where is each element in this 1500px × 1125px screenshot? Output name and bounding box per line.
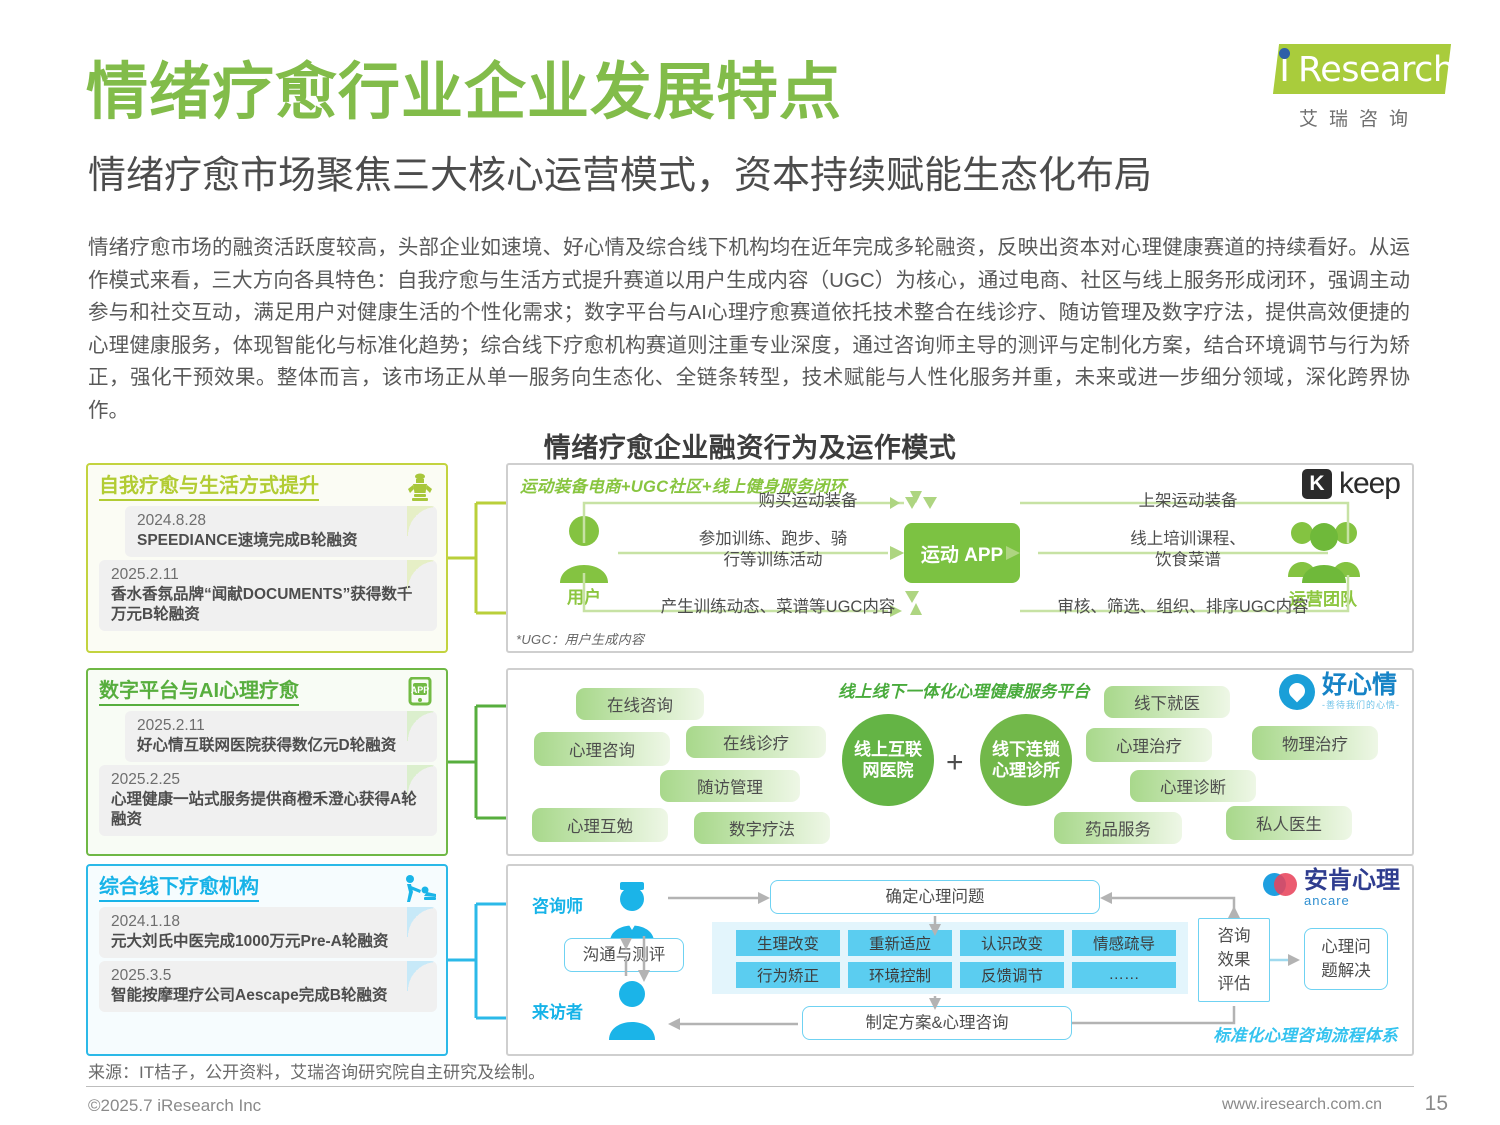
brand-tagline: -善待我们的心情- [1322,698,1400,711]
page-subtitle: 情绪疗愈市场聚焦三大核心运营模式，资本持续赋能生态化布局 [88,152,1152,200]
card-title: 数字平台与AI心理疗愈 [99,679,299,706]
circle-online-hospital: 线上互联 网医院 [842,714,934,806]
flow-label: 上架运动装备 [1038,491,1338,512]
svg-text:APP: APP [411,685,430,695]
note-date: 2025.2.25 [111,770,427,790]
note-corner-icon [407,961,437,991]
plus-sign: + [946,746,964,780]
slide-page: i Research 艾瑞咨询 情绪疗愈行业企业发展特点 情绪疗愈市场聚焦三大核… [0,0,1500,1125]
pill-item: 心理互勉 [532,808,668,842]
logo-chinese-name: 艾瑞咨询 [1258,104,1448,131]
circle-offline-clinic: 线下连锁 心理诊所 [980,714,1072,806]
card-header: 综合线下疗愈机构 [99,873,437,903]
note-desc: 智能按摩理疗公司Aescape完成B轮融资 [111,986,427,1006]
note-desc: 香水香氛品牌“闻献DOCUMENTS”获得数千万元B轮融资 [111,585,427,625]
note-date: 2025.2.11 [137,716,427,736]
pill-item: 心理诊断 [1130,770,1256,802]
trophy-icon [403,472,437,502]
flow-label: 参加训练、跑步、骑 行等训练活动 [658,529,888,571]
note-corner-icon [407,765,437,795]
note-corner-icon [407,560,437,590]
flow-label: 购买运动装备 [678,491,938,512]
note-desc: SPEEDIANCE速境完成B轮融资 [137,531,427,551]
haoxinqing-icon [1279,674,1315,710]
note-desc: 好心情互联网医院获得数亿元D轮融资 [137,736,427,756]
connector-bracket [448,864,506,1056]
website-url: www.iresearch.com.cn [1222,1096,1382,1114]
process-arrows [508,866,1468,1056]
brand-name: 好心情 [1322,672,1400,698]
pill-item: 物理治疗 [1252,726,1378,760]
note-item: 2025.2.11 香水香氛品牌“闻献DOCUMENTS”获得数千万元B轮融资 [99,560,437,631]
massage-icon [403,873,437,903]
card-header: 数字平台与AI心理疗愈 APP [99,677,437,707]
pill-item: 随访管理 [660,770,800,802]
note-date: 2025.3.5 [111,966,427,986]
brand-haoxinqing-logo: 好心情 -善待我们的心情- [1279,672,1400,711]
note-date: 2025.2.11 [111,565,427,585]
footnote-ugc: *UGC：用户生成内容 [516,629,644,648]
footer-divider [86,1086,1414,1087]
card-header: 自我疗愈与生活方式提升 [99,472,437,502]
logo-dot-icon [1279,48,1290,59]
row-digital-platform: 数字平台与AI心理疗愈 APP 2025.2.11 好心情互联网医院获得数亿元D… [86,668,1414,856]
note-date: 2024.8.28 [137,511,427,531]
source-note: 来源：IT桔子，公开资料，艾瑞咨询研究院自主研究及绘制。 [88,1058,545,1083]
logo-wordmark: Research [1298,47,1455,93]
note-item: 2025.3.5 智能按摩理疗公司Aescape完成B轮融资 [99,961,437,1012]
note-desc: 元大刘氏中医完成1000万元Pre-A轮融资 [111,932,427,952]
row-self-healing: 自我疗愈与生活方式提升 2024.8.28 SPEEDIAN [86,463,1414,653]
app-icon: APP [403,677,437,707]
page-title: 情绪疗愈行业企业发展特点 [86,56,842,130]
note-corner-icon [407,506,437,536]
pill-item: 线下就医 [1104,686,1230,718]
note-item: 2025.2.25 心理健康一站式服务提供商橙禾澄心获得A轮融资 [99,765,437,836]
note-item: 2024.1.18 元大刘氏中医完成1000万元Pre-A轮融资 [99,907,437,958]
connector-bracket [448,668,506,856]
logo-badge: i Research [1262,42,1448,98]
note-item: 2025.2.11 好心情互联网医院获得数亿元D轮融资 [125,711,437,762]
pill-item: 药品服务 [1054,812,1182,844]
connector-bracket [448,463,506,653]
card-digital-platform[interactable]: 数字平台与AI心理疗愈 APP 2025.2.11 好心情互联网医院获得数亿元D… [86,668,448,856]
note-corner-icon [407,711,437,741]
card-title: 自我疗愈与生活方式提升 [99,474,319,501]
card-title: 综合线下疗愈机构 [99,875,259,902]
pill-item: 在线咨询 [576,688,704,720]
pill-item: 心理治疗 [1086,728,1212,762]
body-paragraph: 情绪疗愈市场的融资活跃度较高，头部企业如速境、好心情及综合线下机构均在近年完成多… [88,232,1410,427]
panel-tag: 线上线下一体化心理健康服务平台 [838,678,1090,702]
diagram-title: 情绪疗愈企业融资行为及运作模式 [0,426,1500,465]
flow-label: 审核、筛选、组织、排序UGC内容 [1018,597,1348,618]
panel-keep: 运动装备电商+UGC社区+线上健身服务闭环 K keep 用户 运营 [506,463,1414,653]
note-desc: 心理健康一站式服务提供商橙禾澄心获得A轮融资 [111,790,427,830]
pill-item: 在线诊疗 [686,726,826,758]
row-offline-institution: 综合线下疗愈机构 2024.1.18 元大刘氏中医完成1000万元Pre-A轮融… [86,864,1414,1056]
note-date: 2024.1.18 [111,912,427,932]
haoxinqing-text-group: 好心情 -善待我们的心情- [1322,672,1400,711]
note-item: 2024.8.28 SPEEDIANCE速境完成B轮融资 [125,506,437,557]
pill-item: 私人医生 [1226,806,1352,840]
card-offline-institution[interactable]: 综合线下疗愈机构 2024.1.18 元大刘氏中医完成1000万元Pre-A轮融… [86,864,448,1056]
flow-label: 产生训练动态、菜谱等UGC内容 [638,597,918,618]
panel-haoxinqing: 线上线下一体化心理健康服务平台 好心情 -善待我们的心情- 在线咨询 在线诊疗 … [506,668,1414,856]
page-number: 15 [1425,1092,1448,1116]
copyright: ©2025.7 iResearch Inc [88,1096,261,1116]
pill-item: 数字疗法 [694,812,830,844]
pill-item: 心理咨询 [534,732,670,766]
flow-label: 线上培训课程、 饮食菜谱 [1048,529,1328,571]
note-corner-icon [407,907,437,937]
iresearch-logo: i Research 艾瑞咨询 [1258,42,1448,138]
card-self-healing[interactable]: 自我疗愈与生活方式提升 2024.8.28 SPEEDIAN [86,463,448,653]
panel-ancare: 标准化心理咨询流程体系 安肯心理 ancare 咨询师 [506,864,1414,1056]
